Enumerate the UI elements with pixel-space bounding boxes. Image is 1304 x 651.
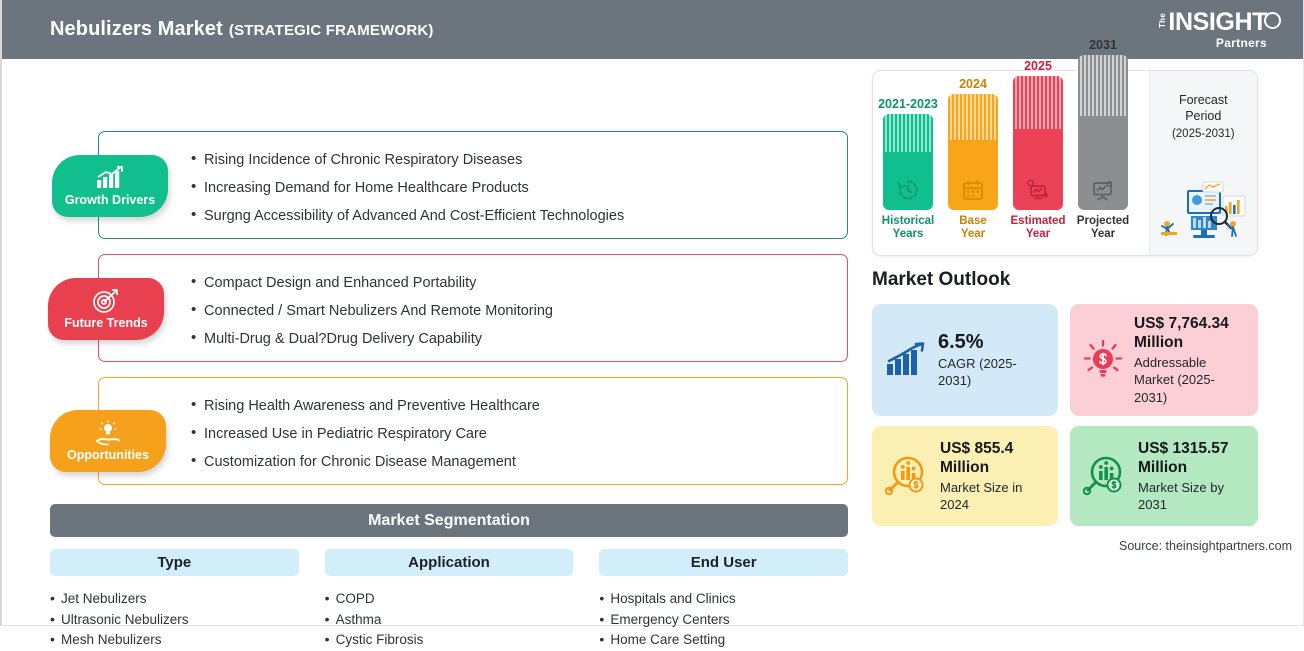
market-outlook-title: Market Outlook [872, 269, 1010, 291]
factor-card-future-trends: Compact Design and Enhanced Portability … [98, 254, 848, 362]
bar-year-label: 2025 [1024, 59, 1052, 73]
pill-future-trends[interactable]: Future Trends [48, 278, 164, 340]
list-item: Rising Incidence of Chronic Respiratory … [191, 146, 847, 174]
bar-year-label: 2031 [1089, 38, 1117, 52]
magnifier-chart-dollar-icon [885, 455, 929, 497]
list-item: Ultrasonic Nebulizers [50, 610, 299, 631]
stat-label: CAGR (2025-2031) [938, 355, 1045, 390]
stat-body: 6.5% CAGR (2025-2031) [938, 331, 1045, 390]
bar-chart-growth-icon [95, 165, 125, 191]
bar-caption: ProjectedYear [1077, 215, 1129, 241]
insight-partners-logo: The INSIGHT Partners [1158, 10, 1281, 49]
list-item: Asthma [325, 610, 574, 631]
page-subtitle: (STRATEGIC FRAMEWORK) [229, 22, 434, 39]
list-item: Jet Nebulizers [50, 589, 299, 610]
lightbulb-hand-icon [93, 420, 123, 446]
lightbulb-dollar-icon [1083, 339, 1123, 381]
bar-year-label: 2021-2023 [878, 97, 938, 111]
forecast-period-panel: Forecast Period (2025-2031) [1149, 71, 1257, 255]
market-segmentation-title: Market Segmentation [50, 504, 848, 537]
pill-label: Growth Drivers [65, 193, 155, 207]
pill-label: Future Trends [64, 316, 147, 330]
stat-label: Market Size by 2031 [1138, 479, 1245, 514]
pill-growth-drivers[interactable]: Growth Drivers [52, 155, 168, 217]
list-item: Surgng Accessibility of Advanced And Cos… [191, 202, 847, 230]
source-attribution: Source: theinsightpartners.com [1119, 539, 1292, 553]
market-segmentation-columns: Type Jet Nebulizers Ultrasonic Nebulizer… [50, 549, 848, 651]
timeline-bar-estimated: 2025 [1013, 59, 1063, 241]
list-item: Compact Design and Enhanced Portability [191, 269, 847, 297]
infographic-page: Nebulizers Market(STRATEGIC FRAMEWORK) T… [0, 0, 1304, 626]
history-clock-icon [896, 178, 920, 202]
logo-partners-text: Partners [1158, 37, 1267, 49]
timeline-bar-base: 2024 [948, 77, 998, 241]
segmentation-items: COPD Asthma Cystic Fibrosis [325, 589, 574, 651]
bar-caption: BaseYear [959, 215, 987, 241]
list-item: Hospitals and Clinics [599, 589, 848, 610]
list-item: Mesh Nebulizers [50, 630, 299, 651]
logo-insight-text: INSIGHT [1168, 10, 1267, 35]
left-column: Rising Incidence of Chronic Respiratory … [2, 59, 864, 626]
stat-label: Addressable Market (2025-2031) [1134, 354, 1245, 407]
opportunities-bullets: Rising Health Awareness and Preventive H… [99, 378, 847, 476]
logo-circle-icon [1264, 12, 1281, 29]
list-item: Cystic Fibrosis [325, 630, 574, 651]
calendar-icon [961, 178, 985, 202]
target-dart-icon [92, 288, 120, 314]
segmentation-header: Type [50, 549, 299, 576]
stat-value: US$ 855.4 Million [940, 439, 1045, 477]
list-item: Emergency Centers [599, 610, 848, 631]
list-item: Multi-Drug & Dual?Drug Delivery Capabili… [191, 325, 847, 353]
pill-opportunities[interactable]: Opportunities [50, 410, 166, 472]
factor-card-growth-drivers: Rising Incidence of Chronic Respiratory … [98, 131, 848, 239]
stat-card-market-size-2024: US$ 855.4 Million Market Size in 2024 [872, 426, 1058, 526]
segmentation-items: Jet Nebulizers Ultrasonic Nebulizers Mes… [50, 589, 299, 651]
segmentation-column-end-user: End User Hospitals and Clinics Emergency… [599, 549, 848, 651]
future-trends-bullets: Compact Design and Enhanced Portability … [99, 255, 847, 353]
segmentation-header: Application [325, 549, 574, 576]
timeline-bars: 2021-2023 HistoricalYears [873, 71, 1149, 255]
stat-body: US$ 7,764.34 Million Addressable Market … [1134, 314, 1245, 407]
stat-card-addressable-market: US$ 7,764.34 Million Addressable Market … [1070, 304, 1258, 416]
list-item: COPD [325, 589, 574, 610]
stat-label: Market Size in 2024 [940, 479, 1045, 514]
header-titles: Nebulizers Market(STRATEGIC FRAMEWORK) [50, 18, 434, 41]
bar-caption: EstimatedYear [1011, 215, 1066, 241]
list-item: Home Care Setting [599, 630, 848, 651]
stat-card-cagr: 6.5% CAGR (2025-2031) [872, 304, 1058, 416]
analytics-estimate-icon [1025, 178, 1051, 202]
timeline-bar-historical: 2021-2023 HistoricalYears [883, 97, 933, 241]
stat-value: US$ 7,764.34 Million [1134, 314, 1245, 352]
factor-card-opportunities: Rising Health Awareness and Preventive H… [98, 377, 848, 485]
magnifier-chart-dollar-icon [1083, 455, 1127, 497]
pill-label: Opportunities [67, 448, 149, 462]
growth-arrow-chart-icon [885, 342, 927, 378]
segmentation-column-application: Application COPD Asthma Cystic Fibrosis [325, 549, 574, 651]
list-item: Connected / Smart Nebulizers And Remote … [191, 297, 847, 325]
segmentation-items: Hospitals and Clinics Emergency Centers … [599, 589, 848, 651]
logo-the-text: The [1158, 13, 1167, 35]
timeline-bar-projected: 2031 Pr [1078, 38, 1128, 241]
forecast-period-range: (2025-2031) [1150, 126, 1257, 142]
growth-drivers-bullets: Rising Incidence of Chronic Respiratory … [99, 132, 847, 230]
bar-year-label: 2024 [959, 77, 987, 91]
bar-caption: HistoricalYears [882, 215, 934, 241]
stat-body: US$ 1315.57 Million Market Size by 2031 [1138, 439, 1245, 514]
presentation-chart-icon [1090, 178, 1116, 202]
forecast-period-title: Forecast Period [1150, 92, 1257, 124]
right-column: 2021-2023 HistoricalYears [868, 59, 1304, 626]
analytics-dashboard-illustration [1157, 180, 1249, 247]
segmentation-header: End User [599, 549, 848, 576]
stat-value: US$ 1315.57 Million [1138, 439, 1245, 477]
stat-body: US$ 855.4 Million Market Size in 2024 [940, 439, 1045, 514]
list-item: Customization for Chronic Disease Manage… [191, 448, 847, 476]
body-area: Rising Incidence of Chronic Respiratory … [2, 59, 1303, 626]
stat-card-market-size-2031: US$ 1315.57 Million Market Size by 2031 [1070, 426, 1258, 526]
list-item: Increased Use in Pediatric Respiratory C… [191, 420, 847, 448]
list-item: Rising Health Awareness and Preventive H… [191, 392, 847, 420]
study-timeline-chart: 2021-2023 HistoricalYears [872, 70, 1258, 256]
list-item: Increasing Demand for Home Healthcare Pr… [191, 174, 847, 202]
segmentation-column-type: Type Jet Nebulizers Ultrasonic Nebulizer… [50, 549, 299, 651]
page-title: Nebulizers Market [50, 18, 223, 40]
stat-value: 6.5% [938, 331, 1045, 353]
